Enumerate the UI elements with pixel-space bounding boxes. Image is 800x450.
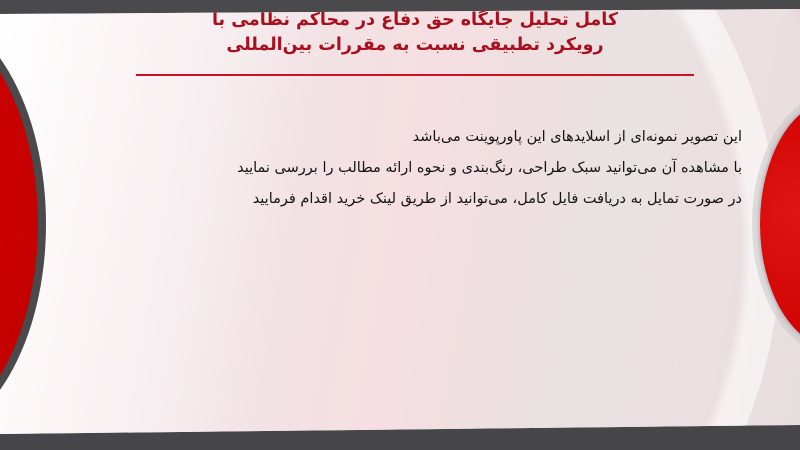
slide-body-line-3: در صورت تمایل به دریافت فایل کامل، می‌تو… [142,184,742,215]
slide-content-plate: کامل تحلیل جایگاه حق دفاع در محاکم نظامی… [0,0,800,450]
slide-canvas: کامل تحلیل جایگاه حق دفاع در محاکم نظامی… [0,0,800,450]
slide-title-line-2: رویکرد تطبیقی نسبت به مقررات بین‌المللی [120,33,710,58]
title-underline-rule [136,74,694,76]
slide-body-line-1: این تصویر نمونه‌ای از اسلایدهای این پاور… [142,122,742,153]
slide-title: کامل تحلیل جایگاه حق دفاع در محاکم نظامی… [120,8,710,58]
slide-body: این تصویر نمونه‌ای از اسلایدهای این پاور… [142,122,742,215]
slide-body-line-2: با مشاهده آن می‌توانید سبک طراحی، رنگ‌بن… [142,153,742,184]
background-gradient [0,0,800,450]
